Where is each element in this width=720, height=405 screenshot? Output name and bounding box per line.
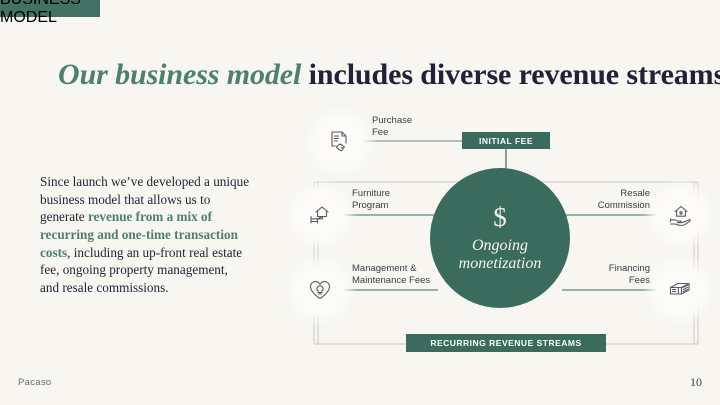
hand-holding-house-icon bbox=[656, 191, 704, 239]
house-sofa-icon bbox=[296, 191, 344, 239]
page-title: Our business model includes diverse reve… bbox=[58, 58, 720, 92]
badge-initial-fee: INITIAL FEE bbox=[462, 132, 550, 149]
page-title-accent: Our business model bbox=[58, 58, 301, 91]
badge-recurring-label: RECURRING REVENUE STREAMS bbox=[430, 338, 581, 348]
eyebrow-tag: BUSINESS MODEL bbox=[0, 0, 100, 17]
footer-brand: Pacaso bbox=[18, 377, 52, 388]
badge-initial-fee-label: INITIAL FEE bbox=[479, 136, 533, 146]
body-paragraph: Since launch we’ve developed a unique bu… bbox=[40, 173, 250, 296]
document-handshake-icon bbox=[316, 118, 364, 166]
node-label-furniture-program: Furniture Program bbox=[352, 188, 390, 212]
node-label-management-maintenance-fees: Management & Maintenance Fees bbox=[352, 263, 430, 287]
dollar-icon: $ bbox=[493, 204, 507, 231]
money-stack-icon bbox=[656, 266, 704, 314]
node-label-purchase-fee: Purchase Fee bbox=[372, 115, 412, 139]
body-part-2: , including an up-front real estate fee,… bbox=[40, 245, 242, 295]
badge-recurring-revenue-streams: RECURRING REVENUE STREAMS bbox=[406, 334, 606, 352]
heart-lightbulb-icon bbox=[296, 266, 344, 314]
footer-page-number: 10 bbox=[690, 375, 702, 390]
node-label-resale-commission: Resale Commission bbox=[545, 188, 650, 212]
page-title-rest: includes diverse revenue streams bbox=[301, 58, 720, 91]
revenue-streams-diagram: $ Ongoing monetization INITIAL FEE RECUR… bbox=[290, 96, 710, 358]
node-label-financing-fees: Financing Fees bbox=[545, 263, 650, 287]
eyebrow-label: BUSINESS MODEL bbox=[0, 0, 100, 27]
